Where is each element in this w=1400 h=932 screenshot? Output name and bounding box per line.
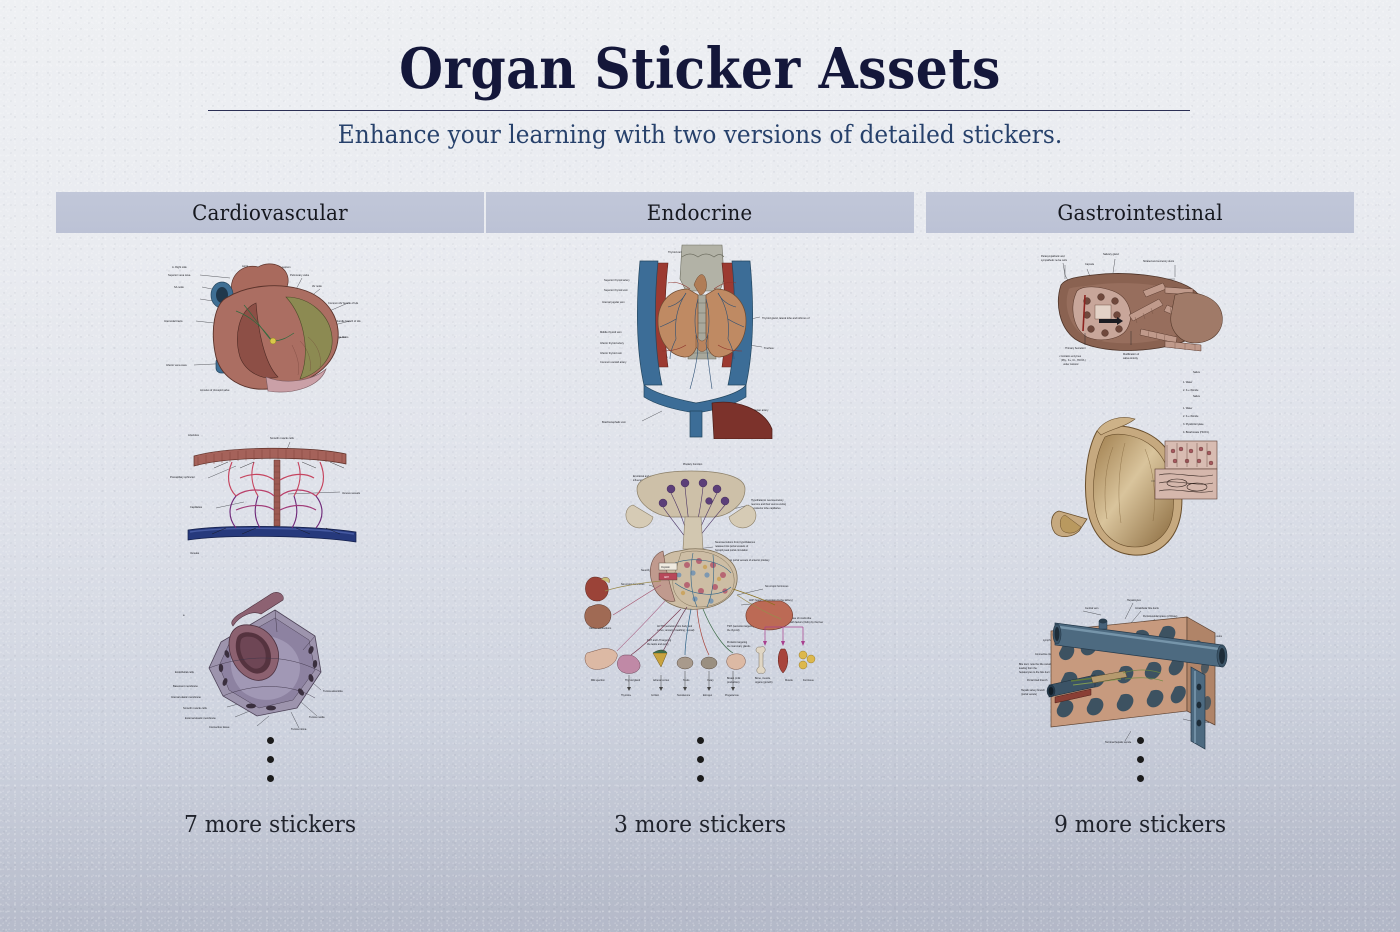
- svg-text:Tunica adventitia: Tunica adventitia: [323, 689, 343, 693]
- svg-text:Testis: Testis: [683, 679, 690, 682]
- poster-page: Organ Sticker Assets Enhance your learni…: [0, 0, 1400, 932]
- dot: [1137, 756, 1144, 763]
- sticker-heart-conduction-system[interactable]: A. Right side Superior vena cava SA node…: [160, 245, 380, 400]
- column-endocrine: Endocrine Thyroid cartilage Superior thy…: [486, 192, 914, 892]
- svg-text:Trachea: Trachea: [764, 346, 774, 350]
- svg-text:cortex; anxiety; breathing; se: cortex; anxiety; breathing; sexual): [657, 629, 695, 632]
- svg-text:Connective tissue: Connective tissue: [209, 725, 230, 729]
- svg-text:Common carotid artery: Common carotid artery: [600, 360, 627, 364]
- svg-text:sympathetic nerve cells: sympathetic nerve cells: [1041, 259, 1068, 262]
- svg-text:Ovary: Ovary: [707, 679, 714, 682]
- sticker-liver-lobule-sinusoids[interactable]: Central vein Hepatocytes Intralobular bi…: [1015, 585, 1265, 755]
- svg-text:Central vein: Central vein: [1085, 607, 1099, 610]
- svg-text:saliva tonicity: saliva tonicity: [1123, 357, 1139, 360]
- svg-text:Internal elastic membrane: Internal elastic membrane: [171, 695, 201, 699]
- dot: [1137, 775, 1144, 782]
- svg-text:Oxytocin: Oxytocin: [661, 566, 671, 569]
- svg-text:Non-tropic hormones: Non-tropic hormones: [765, 585, 789, 588]
- svg-text:under isotonic: under isotonic: [1063, 363, 1079, 366]
- svg-text:Brachiocephalic vein: Brachiocephalic vein: [602, 420, 626, 424]
- page-title: Organ Sticker Assets: [70, 36, 1330, 102]
- svg-text:Progesterone: Progesterone: [725, 694, 740, 697]
- svg-text:Hepatocytes: Hepatocytes: [1127, 599, 1142, 602]
- dot: [697, 756, 704, 763]
- svg-text:Pituitary Function: Pituitary Function: [683, 463, 703, 466]
- svg-text:Estrogen: Estrogen: [703, 694, 713, 697]
- more-stickers-label-gastrointestinal: 9 more stickers: [937, 812, 1344, 838]
- sticker-list-gastrointestinal: Parasympathetic and sympathetic nerve ce…: [926, 233, 1354, 755]
- svg-text:Striated and secretory ducts: Striated and secretory ducts: [1143, 260, 1175, 263]
- sticker-stomach-gastric-glands[interactable]: Saliva 1. Water 2. K+ chloride 3. Ptyali…: [1025, 389, 1255, 579]
- column-header-label: Endocrine: [647, 201, 753, 225]
- more-stickers-label-endocrine: 3 more stickers: [497, 812, 904, 838]
- svg-text:Superior thyroid vein: Superior thyroid vein: [604, 288, 628, 292]
- title-divider: [208, 110, 1190, 111]
- dot: [697, 737, 704, 744]
- svg-text:Bile duct, note the bile canal: Bile duct, note the bile canaliculi: [1019, 663, 1055, 666]
- svg-text:Adrenal cortex: Adrenal cortex: [653, 679, 670, 682]
- svg-text:1. Water: 1. Water: [1183, 381, 1193, 384]
- svg-text:Intralobular bile ducts: Intralobular bile ducts: [1135, 607, 1160, 610]
- svg-text:External elastic membrane: External elastic membrane: [185, 716, 216, 720]
- svg-text:Parasympathetic and: Parasympathetic and: [1041, 255, 1065, 258]
- svg-text:Thyroid gland, lateral lobe an: Thyroid gland, lateral lobe and isthmus …: [762, 316, 810, 320]
- dot: [267, 737, 274, 744]
- svg-text:Thyroid gland: Thyroid gland: [625, 679, 641, 682]
- column-gastrointestinal: Gastrointestinal Parasympathetic and sym…: [926, 192, 1354, 892]
- svg-text:1. Water: 1. Water: [1183, 407, 1193, 410]
- svg-text:Inferior vena cava: Inferior vena cava: [166, 363, 187, 367]
- svg-text:Tunica media: Tunica media: [309, 715, 325, 719]
- svg-text:production): production): [727, 681, 740, 684]
- svg-text:SA node: SA node: [174, 285, 184, 289]
- sticker-capillary-bed[interactable]: Arterioles Smooth muscle cells Precapill…: [170, 422, 370, 562]
- svg-text:Bone, muscle,: Bone, muscle,: [755, 677, 771, 680]
- sticker-list-endocrine: Thyroid cartilage Superior thyroid arter…: [486, 233, 914, 700]
- svg-text:Superior vena cava: Superior vena cava: [168, 273, 191, 277]
- svg-text:(Ptly., K+, Cl-, HCO3-): (Ptly., K+, Cl-, HCO3-): [1061, 359, 1086, 362]
- svg-text:Muscle: Muscle: [785, 679, 794, 682]
- more-stickers-label-cardiovascular: 7 more stickers: [67, 812, 474, 838]
- svg-text:hypophyseal portal circulation: hypophyseal portal circulation: [715, 549, 749, 552]
- svg-text:Common AV bundle of His: Common AV bundle of His: [328, 301, 359, 305]
- sticker-artery-wall-layers[interactable]: Endothelial cells Basement membrane Inte…: [165, 580, 375, 740]
- svg-text:organs (growth): organs (growth): [755, 681, 773, 684]
- svg-text:A. Right side: A. Right side: [172, 265, 187, 269]
- svg-text:4. Bicarbonate (HCO3-): 4. Bicarbonate (HCO3-): [1183, 431, 1209, 434]
- dot: [267, 756, 274, 763]
- svg-text:Hepatic artery branch: Hepatic artery branch: [1021, 689, 1046, 692]
- svg-text:leading from the: leading from the: [1019, 667, 1038, 670]
- svg-text:Endothelial cells: Endothelial cells: [175, 670, 194, 674]
- sticker-columns: Cardiovascular: [0, 192, 1400, 892]
- column-header-label: Cardiovascular: [192, 201, 348, 225]
- column-header-label: Gastrointestinal: [1057, 201, 1222, 225]
- svg-text:Modification of: Modification of: [1123, 353, 1139, 356]
- svg-text:Thyroxine: Thyroxine: [621, 694, 632, 697]
- svg-text:Capsule: Capsule: [1085, 263, 1095, 266]
- svg-text:Annulus of tricuspid valve: Annulus of tricuspid valve: [200, 388, 230, 392]
- svg-text:Arterioles: Arterioles: [188, 433, 200, 437]
- svg-text:Venous vessels: Venous vessels: [342, 491, 361, 495]
- column-cardiovascular: Cardiovascular: [56, 192, 484, 892]
- svg-text:Testosterone: Testosterone: [677, 694, 691, 697]
- svg-text:Inferior thyroid artery: Inferior thyroid artery: [600, 341, 625, 345]
- svg-text:Salivary gland: Salivary gland: [1103, 253, 1119, 256]
- svg-text:in posterior lobe capillaries: in posterior lobe capillaries: [751, 507, 781, 510]
- svg-text:Venules: Venules: [190, 551, 200, 555]
- svg-text:Middle thyroid vein: Middle thyroid vein: [600, 330, 622, 334]
- svg-text:the mammary glands: the mammary glands: [727, 645, 751, 648]
- svg-text:2. K+ chloride: 2. K+ chloride: [1183, 415, 1199, 418]
- svg-text:Pulmonary valve: Pulmonary valve: [290, 273, 310, 277]
- svg-text:Smooth muscle cells: Smooth muscle cells: [183, 706, 207, 710]
- svg-text:Smooth muscle cells: Smooth muscle cells: [270, 436, 294, 440]
- svg-text:Inferior thyroid vein: Inferior thyroid vein: [600, 351, 623, 355]
- svg-text:3. Ptyalin/Amylase: 3. Ptyalin/Amylase: [1183, 423, 1204, 426]
- dot: [1137, 737, 1144, 744]
- svg-text:AV node: AV node: [312, 284, 322, 288]
- svg-text:Prolactin targeting: Prolactin targeting: [727, 641, 748, 644]
- svg-text:Neurosecretions from hypothala: Neurosecretions from hypothalamus: [715, 541, 756, 544]
- svg-text:Hypothalamic neurosecretory: Hypothalamic neurosecretory: [751, 499, 784, 502]
- page-subtitle: Enhance your learning with two versions …: [49, 120, 1351, 149]
- svg-text:Portal triad branch: Portal triad branch: [1027, 679, 1048, 682]
- svg-text:Internal jugular vein: Internal jugular vein: [602, 300, 625, 304]
- svg-text:Internodal tracts: Internodal tracts: [164, 319, 183, 323]
- svg-text:Basement membrane: Basement membrane: [173, 684, 198, 688]
- svg-text:Perisinusoidal space (of Disse: Perisinusoidal space (of Disse): [1143, 615, 1177, 618]
- sticker-pituitary-function[interactable]: Pituitary Function Emotional and environ…: [575, 455, 825, 700]
- column-header-gastrointestinal: Gastrointestinal: [926, 192, 1354, 233]
- svg-text:ADH: ADH: [664, 576, 669, 579]
- svg-text:(portal venule): (portal venule): [1021, 693, 1037, 696]
- svg-text:Capillaries: Capillaries: [190, 505, 203, 509]
- column-header-cardiovascular: Cardiovascular: [56, 192, 484, 233]
- sticker-salivary-acinus[interactable]: Parasympathetic and sympathetic nerve ce…: [1025, 245, 1255, 395]
- svg-text:TSH (secretion targeting: TSH (secretion targeting: [727, 625, 755, 628]
- svg-text:neurons and their axons ending: neurons and their axons ending: [751, 503, 787, 506]
- svg-text:Saliva: Saliva: [1193, 371, 1200, 374]
- svg-text:Cortisol: Cortisol: [651, 694, 659, 697]
- dot: [697, 775, 704, 782]
- sticker-thyroid-gland-anatomy[interactable]: Thyroid cartilage Superior thyroid arter…: [590, 239, 810, 439]
- svg-text:Breast (milk: Breast (milk: [727, 677, 741, 680]
- svg-text:growth factors (IGFs) by the l: growth factors (IGFs) by the liver: [787, 621, 823, 624]
- dot: [267, 775, 274, 782]
- more-indicator-dots-cardiovascular: [56, 737, 484, 794]
- svg-text:'Primary Secretion': 'Primary Secretion': [1065, 347, 1086, 350]
- svg-text:the thyroid): the thyroid): [727, 629, 740, 632]
- svg-text:Saliva: Saliva: [1193, 395, 1200, 398]
- sticker-list-cardiovascular: A. Right side Superior vena cava SA node…: [56, 233, 484, 740]
- svg-text:• Contains enzymes: • Contains enzymes: [1059, 355, 1082, 358]
- svg-text:hepatocytes to the bile duct: hepatocytes to the bile duct: [1019, 671, 1050, 674]
- more-indicator-dots-endocrine: [486, 737, 914, 794]
- svg-text:Precapillary sphincter: Precapillary sphincter: [170, 475, 195, 479]
- more-indicator-dots-gastrointestinal: [926, 737, 1354, 794]
- column-header-endocrine: Endocrine: [486, 192, 914, 233]
- svg-text:Superior thyroid artery: Superior thyroid artery: [604, 278, 630, 282]
- svg-text:Milk ejection: Milk ejection: [591, 679, 605, 682]
- svg-text:released into portal vessels o: released into portal vessels of: [715, 545, 748, 548]
- svg-text:a: a: [183, 614, 185, 617]
- svg-text:Fat tissue: Fat tissue: [803, 679, 814, 682]
